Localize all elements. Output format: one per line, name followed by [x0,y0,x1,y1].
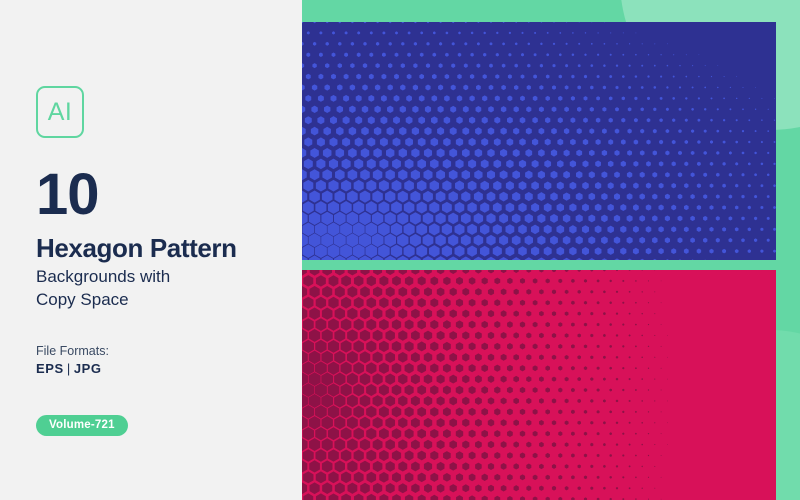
blue-hexagon-halftone [302,22,776,260]
file-formats-label: File Formats: [36,344,109,358]
poster-canvas: AI 10 Hexagon Pattern Backgrounds with C… [0,0,800,500]
file-format-eps: EPS [36,361,64,376]
file-formats-value: EPS|JPG [36,361,102,376]
ai-logo-label: AI [48,98,73,127]
page-subtitle-line-2: Copy Space [36,289,170,312]
pink-hexagon-panel[interactable] [302,270,776,500]
info-card: AI 10 Hexagon Pattern Backgrounds with C… [0,0,302,500]
blue-hexagon-panel[interactable] [302,22,776,260]
file-format-separator: | [64,361,74,376]
volume-badge: Volume-721 [36,415,128,436]
pink-hexagon-halftone [302,270,776,500]
page-subtitle-line-1: Backgrounds with [36,266,170,289]
ai-logo-icon: AI [36,86,84,138]
page-subtitle: Backgrounds with Copy Space [36,266,170,312]
file-format-jpg: JPG [74,361,102,376]
item-count: 10 [36,166,99,224]
page-title: Hexagon Pattern [36,234,237,263]
